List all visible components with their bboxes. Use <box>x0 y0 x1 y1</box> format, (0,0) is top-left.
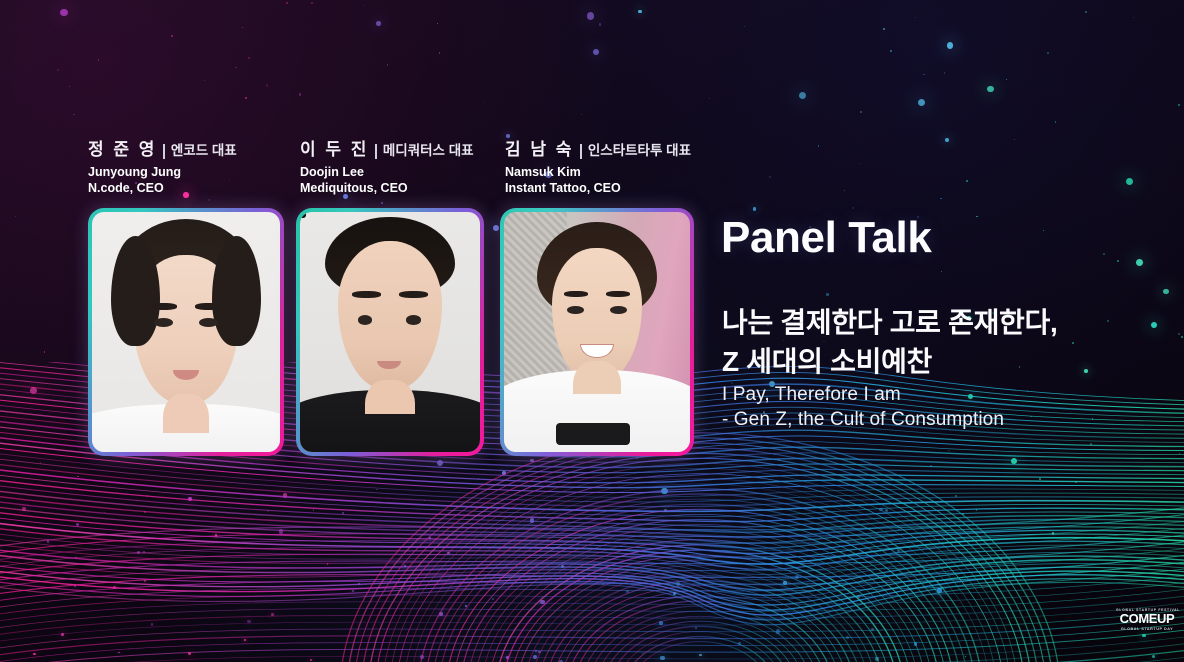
speaker-2-role-kr: 메디쿼터스 대표 <box>383 143 474 158</box>
speaker-1-english-block: Junyoung Jung N.code, CEO <box>88 164 237 196</box>
speaker-1-name-en: Junyoung Jung <box>88 164 237 180</box>
speaker-3-separator <box>580 144 582 159</box>
session-subtitle-en: I Pay, Therefore I am - Gen Z, the Cult … <box>722 382 1004 433</box>
speaker-card-1: 정 준 영엔코드 대표 Junyoung Jung N.code, CEO <box>88 141 237 196</box>
logo-wordmark: COMEUP <box>1116 612 1178 625</box>
speaker-2-role-en: Mediquitous, CEO <box>300 180 474 196</box>
speaker-2-name-en: Doojin Lee <box>300 164 474 180</box>
headline-kr-line-1: 나는 결제한다 고로 존재한다, <box>722 303 1057 342</box>
speaker-3-korean-line: 김 남 숙인스타트타투 대표 <box>505 141 691 160</box>
speaker-2-separator <box>375 144 377 159</box>
speaker-2-name-kr: 이 두 진 <box>300 140 369 159</box>
session-headline-kr: 나는 결제한다 고로 존재한다, Z 세대의 소비예찬 <box>722 303 1057 381</box>
speaker-card-2: 이 두 진메디쿼터스 대표 Doojin Lee Mediquitous, CE… <box>300 141 474 196</box>
speaker-2-photo-frame <box>296 208 484 456</box>
headline-kr-line-2: Z 세대의 소비예찬 <box>722 342 1057 381</box>
page-title: Panel Talk <box>721 213 931 263</box>
subtitle-en-line-2: - Gen Z, the Cult of Consumption <box>722 407 1004 432</box>
speaker-1-photo-frame <box>88 208 284 456</box>
speaker-3-name-en: Namsuk Kim <box>505 164 691 180</box>
speaker-3-role-en: Instant Tattoo, CEO <box>505 180 691 196</box>
speaker-1-role-kr: 엔코드 대표 <box>171 143 237 158</box>
speaker-1-photo <box>92 212 280 452</box>
speaker-3-role-kr: 인스타트타투 대표 <box>588 143 691 158</box>
slide-canvas: 정 준 영엔코드 대표 Junyoung Jung N.code, CEO 이 … <box>0 0 1184 662</box>
speaker-2-english-block: Doojin Lee Mediquitous, CEO <box>300 164 474 196</box>
speaker-3-photo <box>504 212 690 452</box>
speaker-1-name-kr: 정 준 영 <box>88 140 157 159</box>
speaker-3-photo-frame <box>500 208 694 456</box>
speaker-1-separator <box>163 144 165 159</box>
subtitle-en-line-1: I Pay, Therefore I am <box>722 382 1004 407</box>
speaker-1-korean-line: 정 준 영엔코드 대표 <box>88 141 237 160</box>
speaker-3-name-kr: 김 남 숙 <box>505 140 574 159</box>
logo-tagline-bottom: GLOBAL STARTUP DAY <box>1116 627 1178 631</box>
speaker-card-3: 김 남 숙인스타트타투 대표 Namsuk Kim Instant Tattoo… <box>505 141 691 196</box>
speaker-3-english-block: Namsuk Kim Instant Tattoo, CEO <box>505 164 691 196</box>
speaker-2-photo <box>300 212 480 452</box>
speaker-1-role-en: N.code, CEO <box>88 180 237 196</box>
comeup-logo: GLOBAL STARTUP FESTIVAL COMEUP GLOBAL ST… <box>1116 608 1178 631</box>
speaker-2-korean-line: 이 두 진메디쿼터스 대표 <box>300 141 474 160</box>
